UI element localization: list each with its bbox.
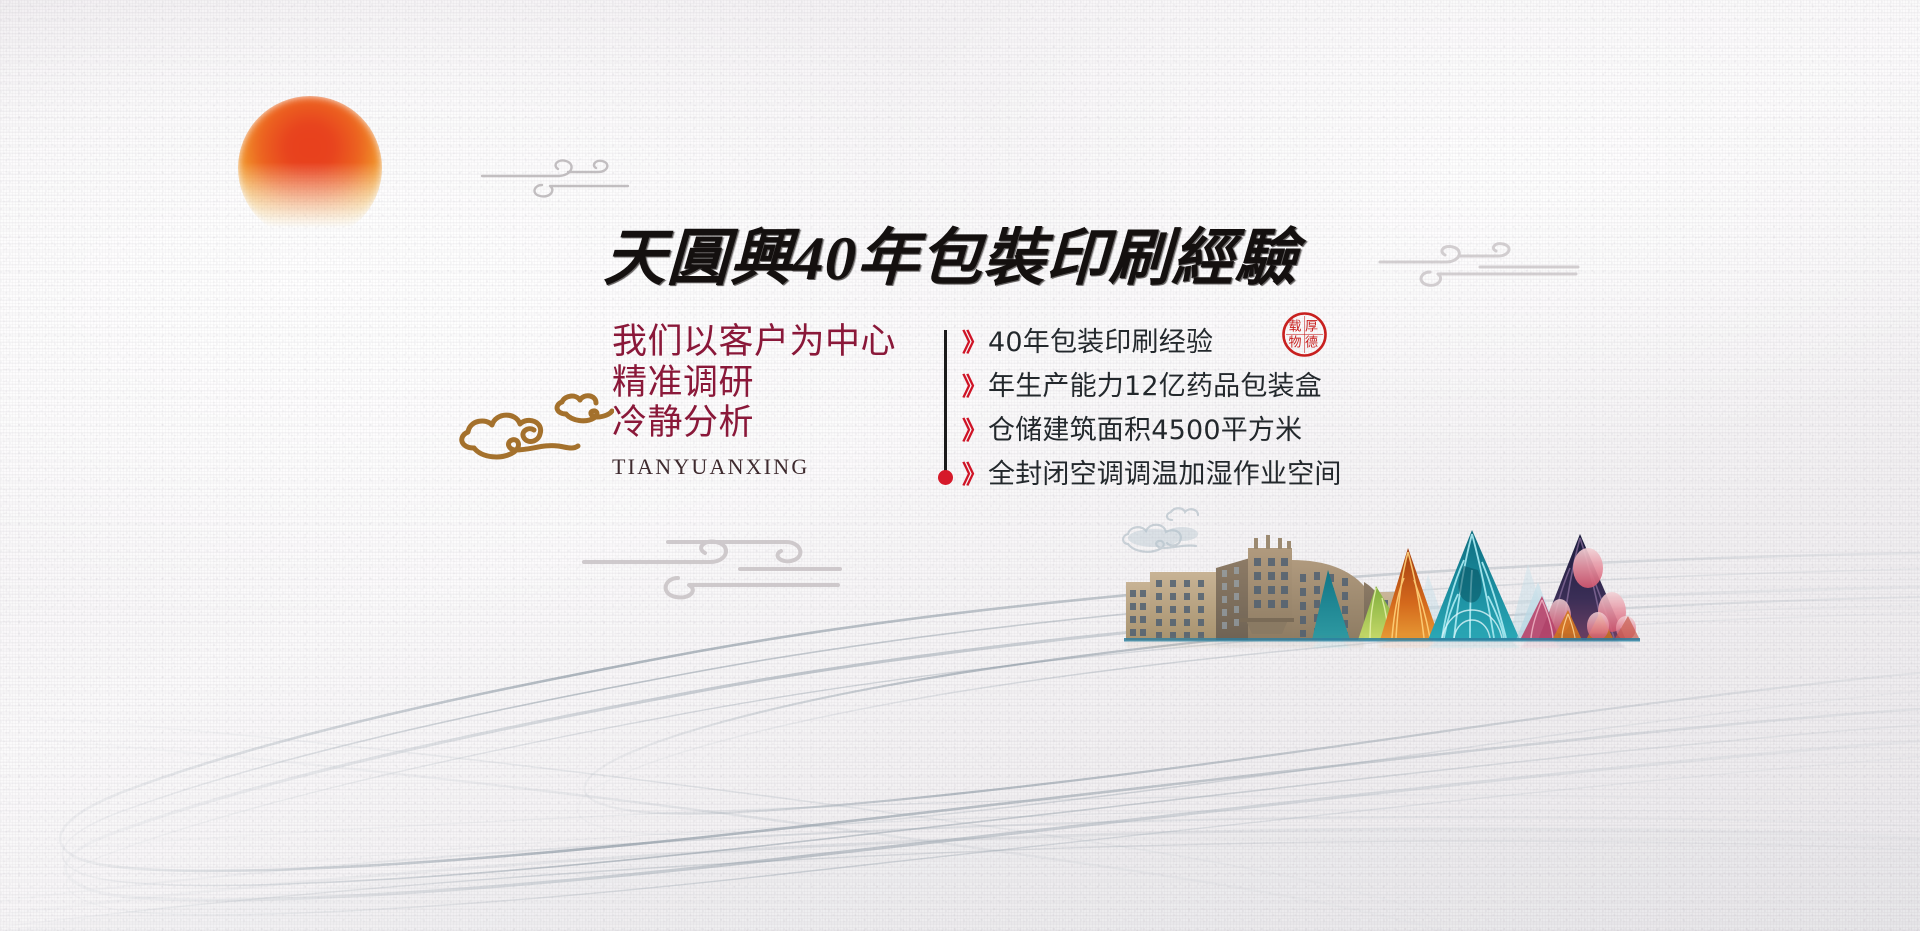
chevron-right-icon: 》 — [962, 330, 988, 355]
factory-and-mountains-illustration — [1120, 508, 1650, 668]
feature-text: 全封闭空调调温加湿作业空间 — [988, 460, 1342, 490]
feature-text: 年生产能力12亿药品包装盒 — [988, 372, 1322, 402]
list-item: 》 年生产能力12亿药品包装盒 — [962, 372, 1342, 410]
office-building — [1126, 535, 1400, 640]
chevron-right-icon: 》 — [962, 374, 988, 399]
page-title: 天圓興40年包裝印刷經驗 — [603, 228, 1299, 290]
rising-sun-icon — [238, 96, 382, 240]
chevron-right-icon: 》 — [962, 462, 988, 487]
red-seal-stamp: 厚 德 载 物 — [1281, 311, 1328, 358]
chevron-right-icon: 》 — [962, 418, 988, 443]
seal-char-2: 德 — [1305, 335, 1318, 350]
divider-dot-indicator — [938, 470, 953, 485]
slogan-block: 我们以客户为中心 精准调研 冷静分析 TIANYUANXING — [612, 322, 912, 480]
vertical-divider — [944, 330, 947, 474]
cloud-line-decoration-top-left — [480, 152, 630, 200]
list-item: 》 仓储建筑面积4500平方米 — [962, 416, 1342, 454]
gold-cloud-decoration — [452, 392, 614, 472]
slogan-line-1: 我们以客户为中心 — [612, 322, 912, 363]
feature-text: 仓储建筑面积4500平方米 — [988, 416, 1302, 446]
seal-char-3: 载 — [1288, 319, 1301, 334]
brand-pinyin: TIANYUANXING — [612, 454, 912, 480]
promotional-banner: 天圓興40年包裝印刷經驗 我们以客户为中心 精准调研 冷静分析 TIANYUAN… — [0, 0, 1920, 931]
seal-char-4: 物 — [1288, 335, 1301, 350]
slogan-line-2: 精准调研 — [612, 363, 912, 404]
cloud-line-decoration-center — [580, 528, 842, 600]
feature-text: 40年包装印刷经验 — [988, 328, 1213, 358]
cloud-line-decoration-right — [1380, 236, 1580, 288]
slogan-line-3: 冷静分析 — [612, 403, 912, 444]
seal-char-1: 厚 — [1305, 319, 1318, 334]
list-item: 》 全封闭空调调温加湿作业空间 — [962, 460, 1342, 498]
